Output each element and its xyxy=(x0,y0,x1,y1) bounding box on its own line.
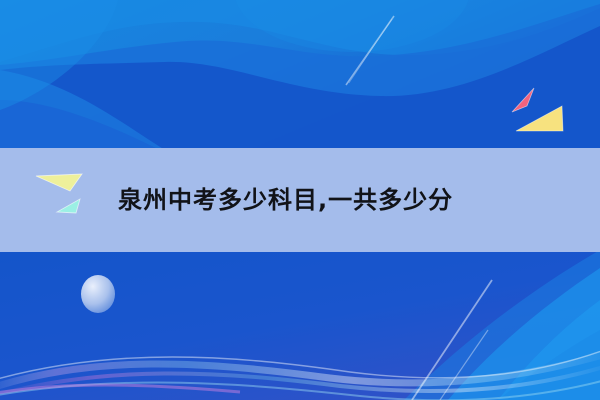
cyan-wedge-icon xyxy=(57,199,80,213)
banner-image: 泉州中考多少科目,一共多少分 xyxy=(0,0,600,400)
pale-yellow-wedge-icon xyxy=(36,174,82,191)
band-decorations xyxy=(0,0,600,400)
